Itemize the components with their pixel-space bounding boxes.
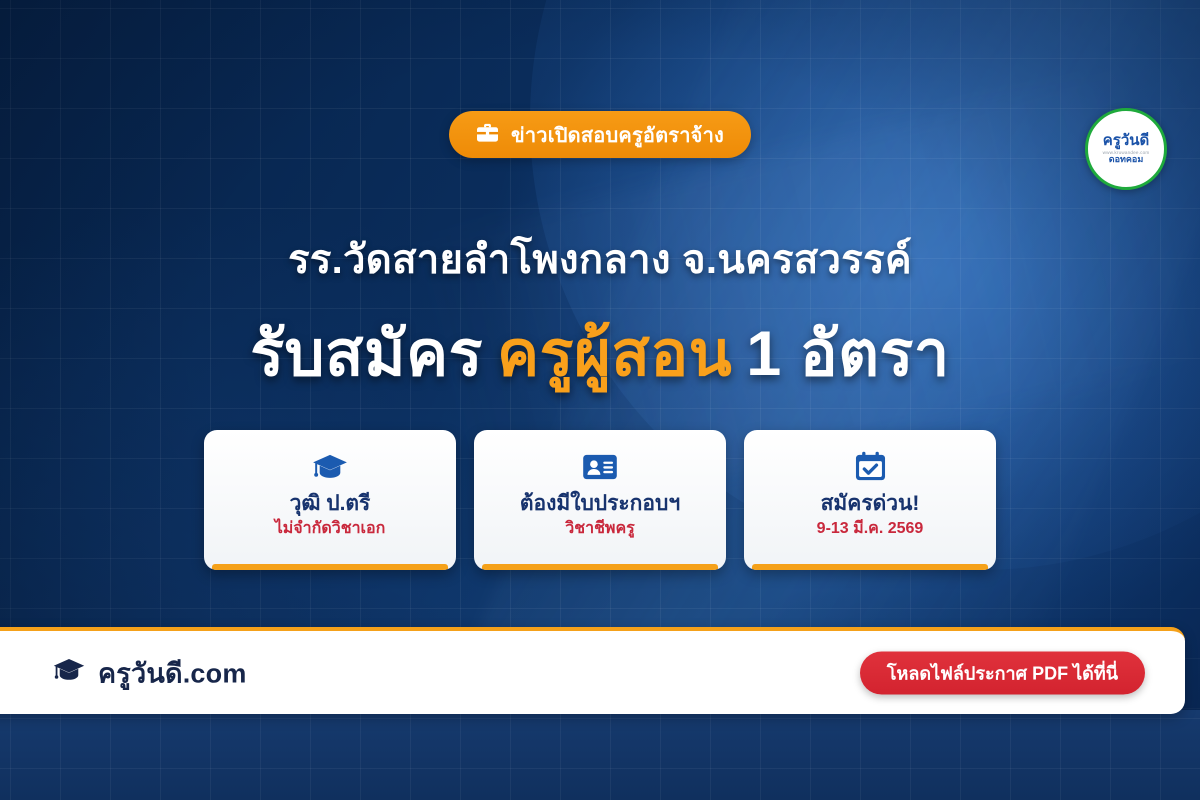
main-heading-accent: ครูผู้สอน	[497, 319, 732, 389]
site-logo-badge[interactable]: ครูวันดี www.kruwandee.com ดอทคอม	[1085, 108, 1167, 190]
briefcase-icon	[476, 122, 499, 148]
info-card-group: วุฒิ ป.ตรี ไม่จำกัดวิชาเอก ต้องมีใบประกอ…	[204, 430, 996, 570]
main-heading-part2: 1 อัตรา	[746, 319, 950, 389]
info-card-deadline: สมัครด่วน! 9-13 มี.ค. 2569	[744, 430, 996, 570]
card-accent-bar	[212, 564, 448, 570]
card-accent-bar	[752, 564, 988, 570]
calendar-check-icon	[854, 450, 887, 483]
info-card-subtitle: ไม่จำกัดวิชาเอก	[275, 520, 386, 538]
id-card-icon	[582, 450, 618, 483]
logo-sub-text: ดอทคอม	[1109, 155, 1144, 165]
logo-main-text: ครูวันดี	[1103, 133, 1150, 149]
graduation-cap-icon	[311, 450, 349, 483]
school-name-heading: รร.วัดสายลำโพงกลาง จ.นครสวรรค์	[0, 227, 1200, 291]
footer-bar: ครูวันดี.com โหลดไฟล์ประกาศ PDF ได้ที่นี…	[0, 627, 1185, 714]
card-accent-bar	[482, 564, 718, 570]
info-card-subtitle: 9-13 มี.ค. 2569	[817, 520, 924, 538]
info-card-subtitle: วิชาชีพครู	[565, 520, 635, 538]
graduation-cap-icon	[52, 657, 86, 689]
info-card-title: วุฒิ ป.ตรี	[290, 492, 371, 515]
footer-brand[interactable]: ครูวันดี.com	[52, 651, 247, 694]
info-card-license: ต้องมีใบประกอบฯ วิชาชีพครู	[474, 430, 726, 570]
topic-pill[interactable]: ข่าวเปิดสอบครูอัตราจ้าง	[449, 111, 751, 158]
bottom-grid-pattern	[0, 710, 1200, 800]
bottom-background-strip	[0, 710, 1200, 800]
topic-pill-label: ข่าวเปิดสอบครูอัตราจ้าง	[511, 119, 724, 151]
download-pdf-button[interactable]: โหลดไฟล์ประกาศ PDF ได้ที่นี่	[860, 651, 1145, 694]
main-heading: รับสมัครครูผู้สอน1 อัตรา	[0, 303, 1200, 403]
footer-brand-text: ครูวันดี.com	[98, 651, 247, 694]
info-card-title: ต้องมีใบประกอบฯ	[520, 492, 680, 515]
main-heading-part1: รับสมัคร	[250, 319, 483, 389]
download-pdf-label: โหลดไฟล์ประกาศ PDF ได้ที่นี่	[887, 658, 1118, 687]
poster-canvas: ข่าวเปิดสอบครูอัตราจ้าง ครูวันดี www.kru…	[0, 0, 1200, 800]
info-card-title: สมัครด่วน!	[821, 492, 920, 515]
info-card-qualification: วุฒิ ป.ตรี ไม่จำกัดวิชาเอก	[204, 430, 456, 570]
